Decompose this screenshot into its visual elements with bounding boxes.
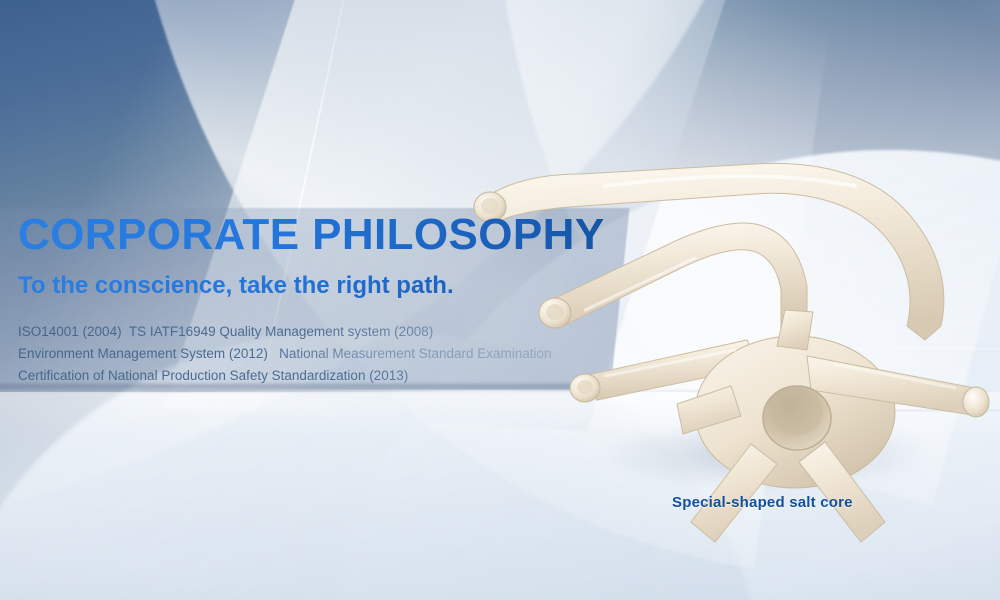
certification-line: Environment Management System (2012) Nat… <box>18 343 638 365</box>
certification-list: ISO14001 (2004) TS IATF16949 Quality Man… <box>18 321 638 387</box>
certification-line: ISO14001 (2004) TS IATF16949 Quality Man… <box>18 321 638 343</box>
product-caption: Special-shaped salt core <box>672 494 853 511</box>
page-title: CORPORATE PHILOSOPHY <box>18 212 638 259</box>
page-subtitle: To the conscience, take the right path. <box>18 273 638 299</box>
certification-line: Certification of National Production Saf… <box>18 365 638 387</box>
headline-block: CORPORATE PHILOSOPHY To the conscience, … <box>18 212 638 387</box>
corporate-philosophy-banner: CORPORATE PHILOSOPHY To the conscience, … <box>0 0 1000 600</box>
